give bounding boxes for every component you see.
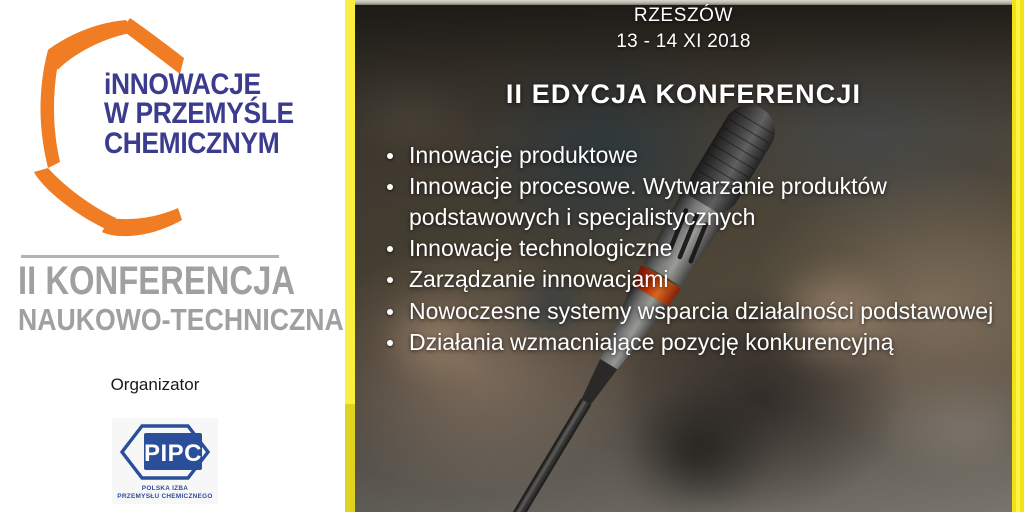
event-date: 13 - 14 XI 2018: [355, 31, 1012, 53]
topic-item: Działania wzmacniające pozycję konkurenc…: [377, 327, 997, 357]
edition-title: II EDYCJA KONFERENCJI: [355, 79, 1012, 110]
topic-item: Innowacje procesowe. Wytwarzanie produkt…: [377, 171, 997, 232]
topic-item: Innowacje technologiczne: [377, 233, 997, 263]
topic-item: Nowoczesne systemy wsparcia działalności…: [377, 296, 997, 326]
conference-poster: iNNOWACJE W PRZEMYŚLE CHEMICZNYM II KONF…: [0, 0, 1024, 512]
svg-text:POLSKA IZBA: POLSKA IZBA: [142, 485, 188, 492]
right-panel: RZESZÓW 13 - 14 XI 2018 II EDYCJA KONFER…: [345, 0, 1024, 512]
topics-list: Innowacje produktowe Innowacje procesowe…: [377, 140, 997, 359]
frame-left-upper: [345, 0, 355, 404]
brand-wordmark-line-2: W PRZEMYŚLE: [104, 99, 289, 128]
conference-subtitle-line-2: NAUKOWO-TECHNICZNA: [18, 305, 293, 335]
divider: [21, 255, 279, 258]
conference-subtitle-line-1: II KONFERENCJA: [18, 262, 280, 301]
svg-text:PRZEMYSŁU CHEMICZNEGO: PRZEMYSŁU CHEMICZNEGO: [117, 493, 212, 500]
brand-wordmark-line-3: CHEMICZNYM: [104, 129, 289, 158]
brand-logo: iNNOWACJE W PRZEMYŚLE CHEMICZNYM: [0, 4, 345, 244]
brand-wordmark: iNNOWACJE W PRZEMYŚLE CHEMICZNYM: [104, 70, 289, 158]
conference-subtitle: II KONFERENCJA NAUKOWO-TECHNICZNA: [18, 262, 338, 336]
event-city: RZESZÓW: [355, 5, 1012, 27]
frame-right-highlight: [1016, 0, 1020, 512]
pipc-logo: PIPC POLSKA IZBA PRZEMYSŁU CHEMICZNEGO: [112, 418, 218, 504]
topic-item: Zarządzanie innowacjami: [377, 264, 997, 294]
svg-text:PIPC: PIPC: [144, 440, 202, 467]
left-panel: iNNOWACJE W PRZEMYŚLE CHEMICZNYM II KONF…: [0, 0, 345, 512]
brand-wordmark-line-1: iNNOWACJE: [104, 70, 289, 99]
conference-photo: RZESZÓW 13 - 14 XI 2018 II EDYCJA KONFER…: [355, 0, 1012, 512]
topic-item: Innowacje produktowe: [377, 140, 997, 170]
organizer-label: Organizator: [0, 375, 310, 395]
frame-left-lower: [345, 404, 355, 512]
